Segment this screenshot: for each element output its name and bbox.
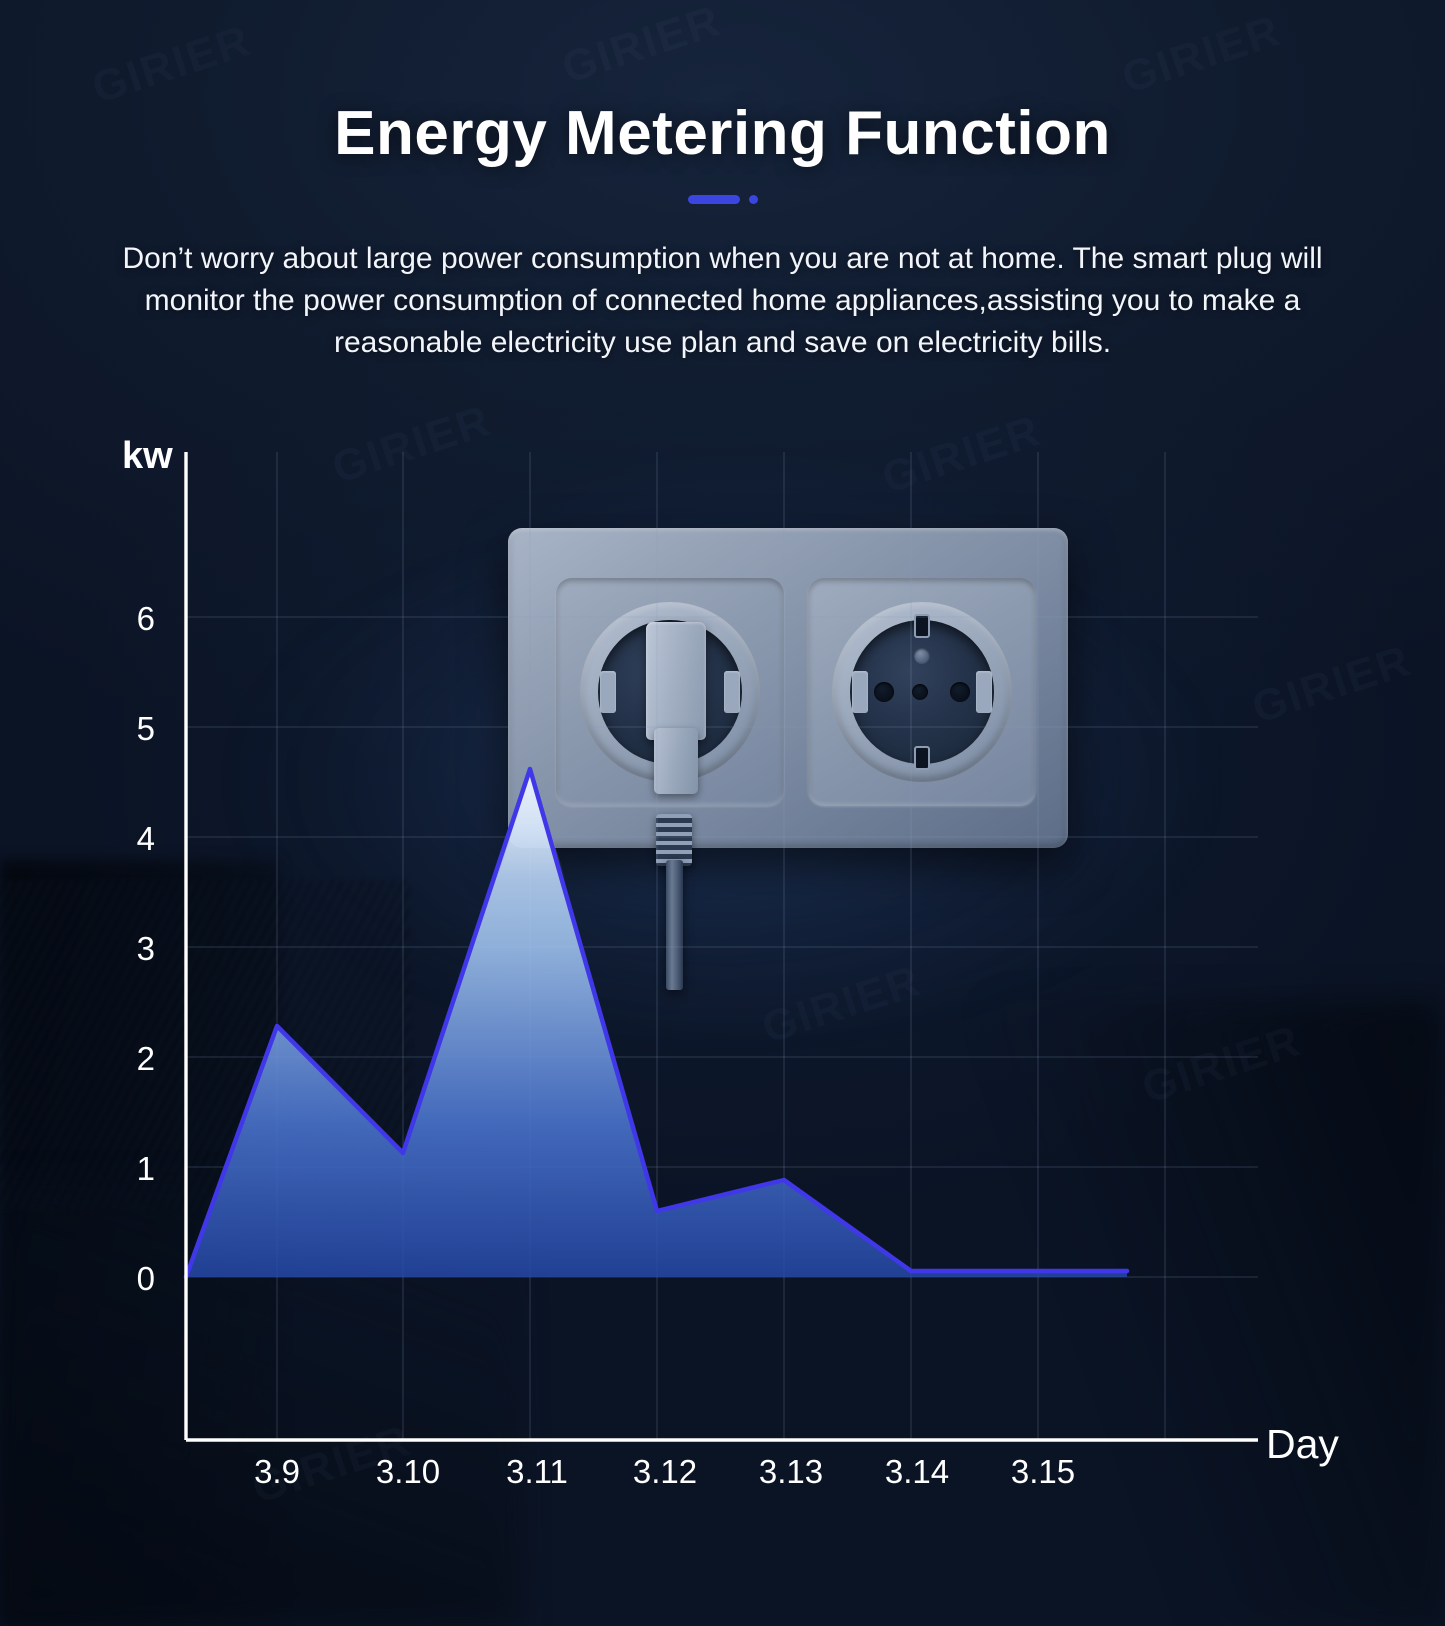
chart-y-tick-5: 5 [137, 710, 155, 747]
watermark: GIRIER [326, 396, 497, 494]
title-divider [0, 195, 1445, 204]
socket-outlet-left [556, 578, 784, 806]
outlet-recess [850, 620, 994, 764]
pin-hole-left-icon [874, 682, 894, 702]
watermark: GIRIER [876, 406, 1047, 504]
outlet-ring [832, 602, 1012, 782]
background-sofa-lower [0, 1180, 520, 1626]
wall-socket-image [508, 528, 1068, 848]
earth-clip-right-icon [724, 671, 740, 713]
chart-y-tick-4: 4 [137, 820, 155, 857]
pin-hole-center-icon [912, 684, 928, 700]
watermark: GIRIER [1246, 636, 1417, 734]
promo-page: GIRIER GIRIER GIRIER GIRIER GIRIER GIRIE… [0, 0, 1445, 1626]
background-cushion [0, 880, 410, 1210]
power-cord [666, 860, 683, 990]
chart-y-axis-unit: kw [122, 435, 173, 477]
page-subtitle: Don’t worry about large power consumptio… [98, 238, 1348, 364]
background-shadow-right [985, 1000, 1445, 1626]
chart-y-tick-6: 6 [137, 600, 155, 637]
cord-strain-relief [656, 814, 692, 866]
plug-neck [654, 728, 698, 794]
earth-clip-left-icon [600, 671, 616, 713]
divider-dot-icon [749, 195, 758, 204]
ground-tab-top-icon [914, 614, 930, 638]
socket-outlet-right [808, 578, 1036, 806]
pin-hole-right-icon [950, 682, 970, 702]
plug-body [646, 622, 706, 740]
divider-bar-icon [688, 195, 740, 204]
chart-x-tick-4: 3.13 [759, 1453, 823, 1490]
chart-x-tick-5: 3.14 [885, 1453, 949, 1490]
earth-clip-left-icon [852, 671, 868, 713]
header: Energy Metering Function Don’t worry abo… [0, 0, 1445, 364]
screw-icon [914, 648, 930, 664]
earth-clip-right-icon [976, 671, 992, 713]
page-title: Energy Metering Function [0, 98, 1445, 169]
chart-x-tick-3: 3.12 [633, 1453, 697, 1490]
ground-tab-bottom-icon [914, 746, 930, 770]
